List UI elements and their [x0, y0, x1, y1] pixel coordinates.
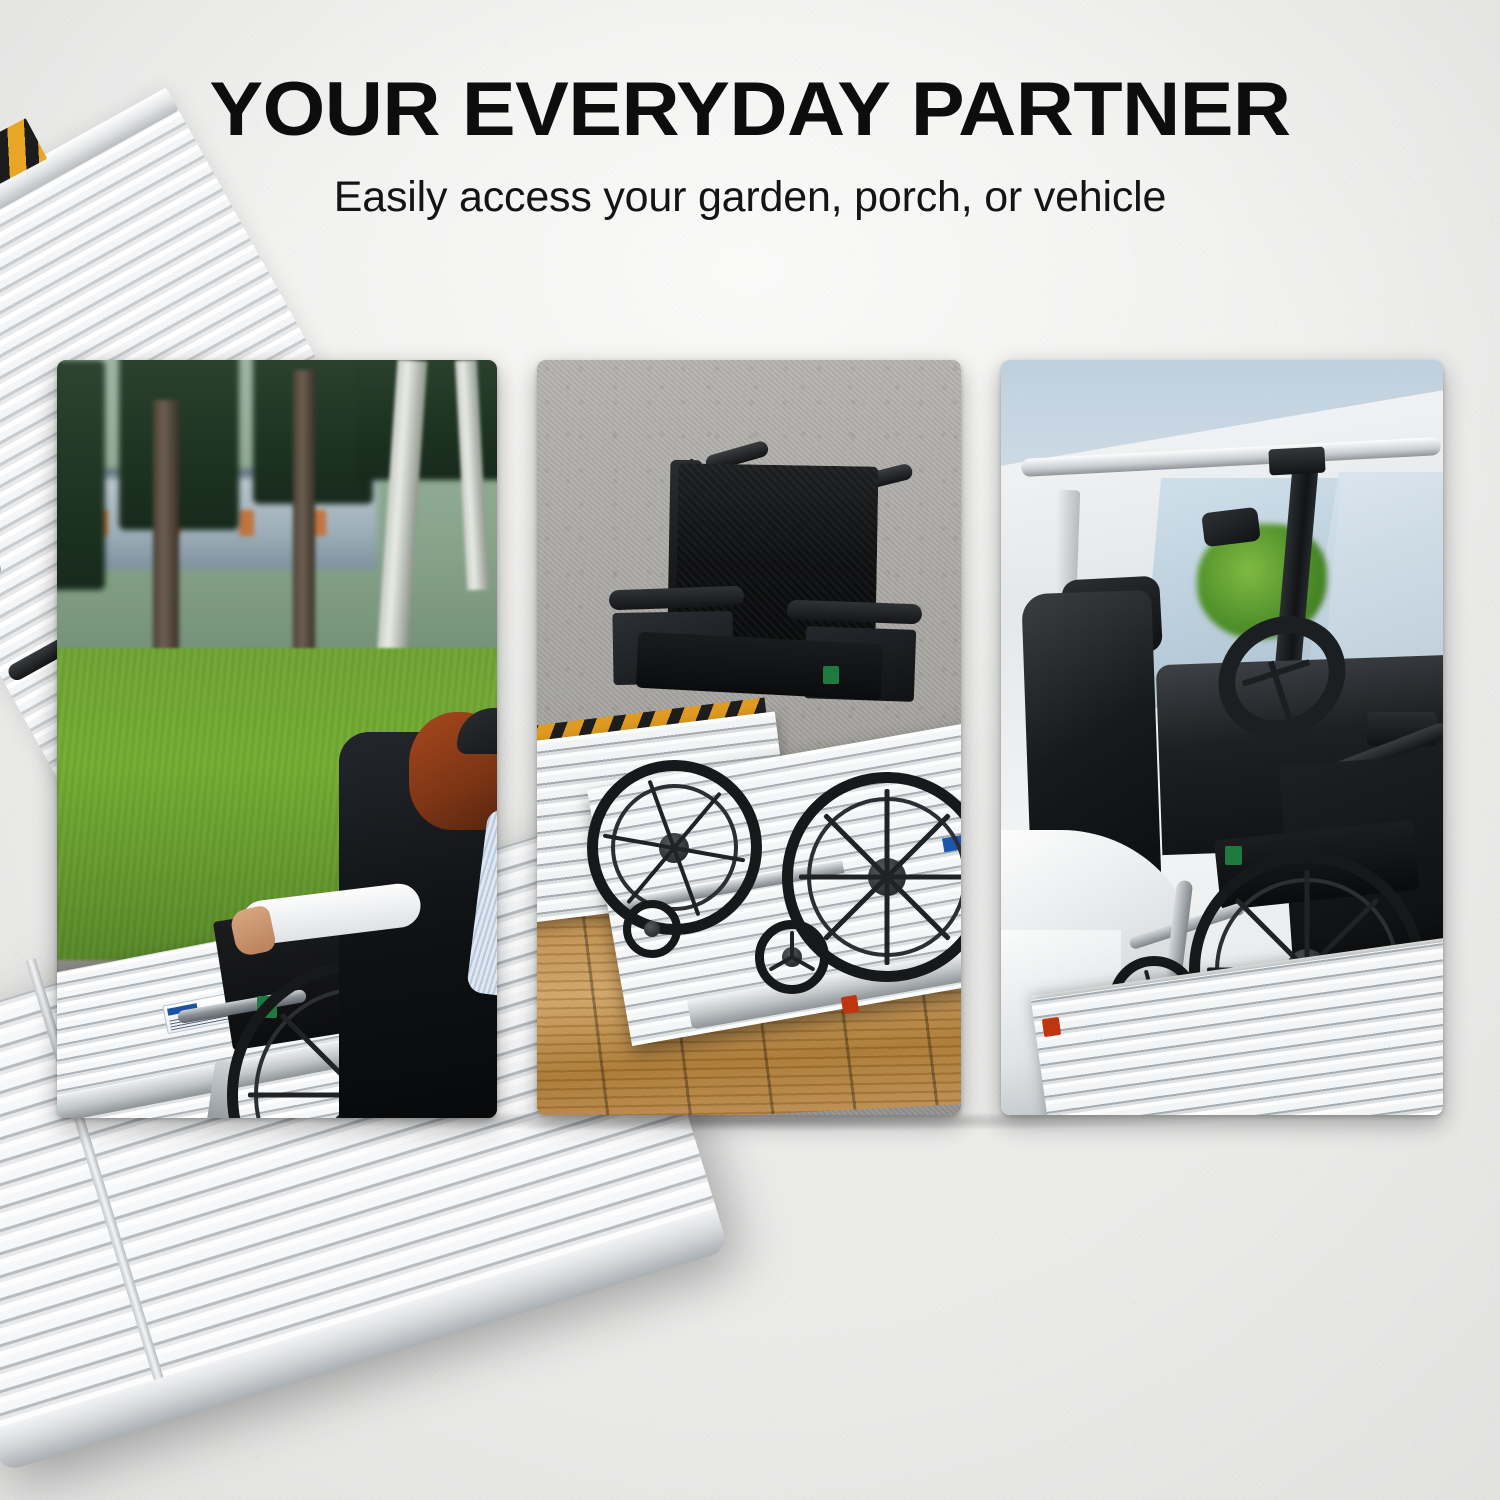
green-brand-label — [823, 666, 839, 684]
wheelchair-castor-right — [755, 920, 829, 994]
page-title: YOUR EVERYDAY PARTNER — [0, 72, 1500, 148]
tree-canopy — [119, 360, 239, 530]
page-subtitle: Easily access your garden, porch, or veh… — [0, 174, 1500, 221]
panel-garden[interactable] — [57, 360, 497, 1118]
pillar-clip-bracket — [1268, 447, 1325, 476]
tree-trunk — [153, 400, 179, 670]
image-panel-strip — [57, 360, 1443, 1115]
red-warning-label — [841, 995, 860, 1015]
wheel-spoke — [799, 875, 887, 880]
wheel-spoke — [1305, 870, 1310, 970]
wheel-spoke — [887, 875, 961, 880]
castor-hub — [644, 921, 660, 937]
header-block: YOUR EVERYDAY PARTNER Easily access your… — [0, 72, 1500, 221]
castor-spoke — [790, 931, 794, 957]
red-warning-label — [1042, 1017, 1061, 1037]
wheel-spoke — [884, 877, 889, 965]
panel-porch[interactable] — [537, 360, 961, 1115]
wheelchair-castor-left — [623, 900, 681, 958]
panel-vehicle[interactable] — [1001, 360, 1443, 1115]
rearview-mirror — [1201, 507, 1261, 548]
tree-canopy — [57, 360, 105, 590]
tree-trunk — [293, 370, 315, 660]
wheelchair-rear-wheel-left — [587, 760, 762, 935]
green-brand-label — [1225, 846, 1242, 865]
building-window — [239, 510, 254, 536]
wheel-spoke — [884, 789, 889, 877]
